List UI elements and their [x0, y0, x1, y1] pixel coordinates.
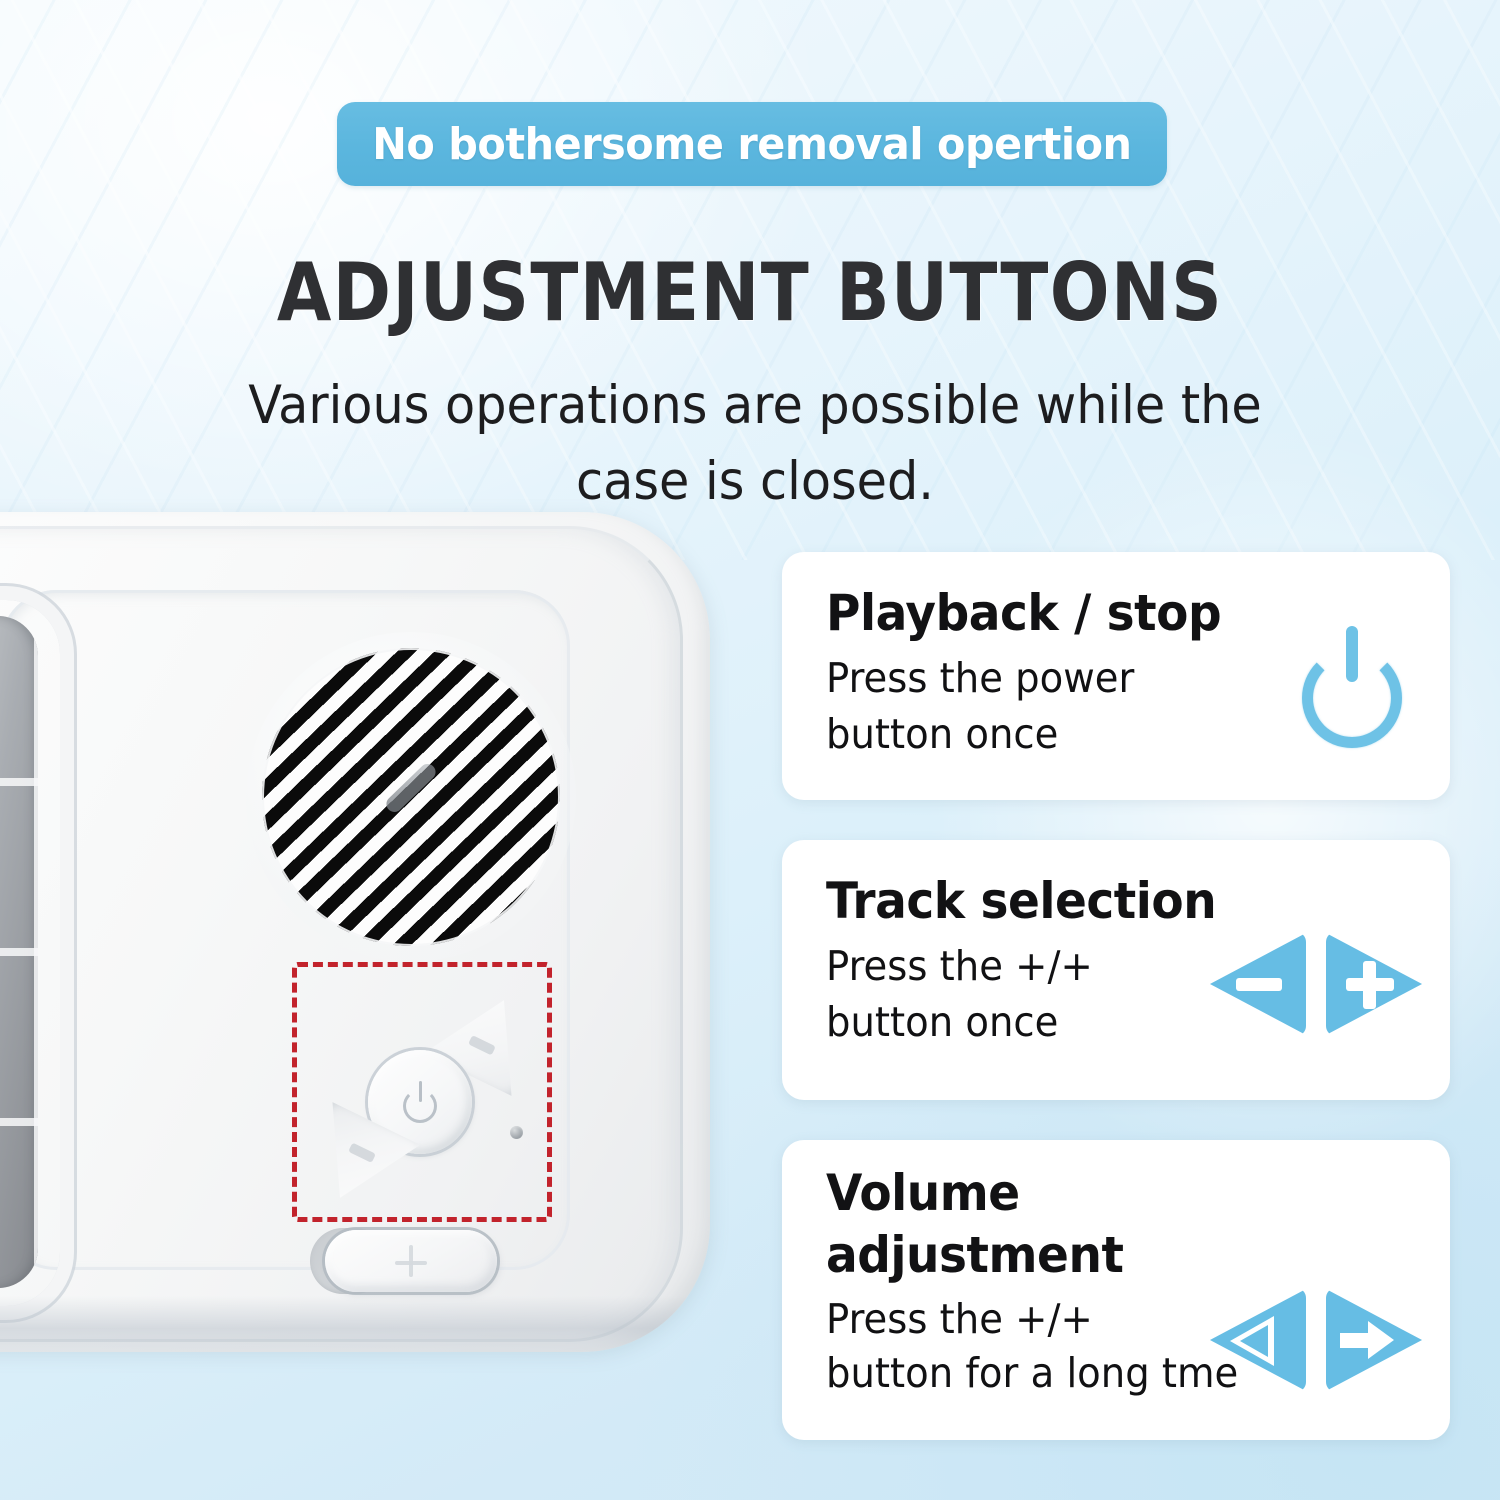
- forward-arrow-triangle-icon: [1326, 1288, 1424, 1392]
- volume-down-glyph: [348, 1143, 376, 1163]
- feature-card-track-selection-desc: Press the +/+ button once: [826, 938, 1216, 1050]
- infographic-page: No bothersome removal opertion ADJUSTMEN…: [0, 0, 1500, 1500]
- track-selection-icons: [1208, 932, 1424, 1036]
- feature-card-playback-title: Playback / stop: [826, 584, 1221, 642]
- feature-card-volume-adjustment-title: Volume adjustment: [826, 1162, 1238, 1286]
- volume-up-glyph: [468, 1035, 496, 1055]
- plus-triangle-icon: [1326, 932, 1424, 1036]
- latch-glyph-icon: [395, 1245, 427, 1277]
- page-subtitle: Various operations are possible while th…: [192, 368, 1317, 520]
- feature-card-playback-text: Playback / stop Press the power button o…: [826, 584, 1246, 762]
- feature-card-playback-desc: Press the power button once: [826, 650, 1221, 762]
- storage-compartment-grid: [0, 616, 38, 1288]
- power-icon: [400, 1081, 440, 1121]
- latch-button[interactable]: [325, 1230, 497, 1292]
- feature-card-track-selection-text: Track selection Press the +/+ button onc…: [826, 872, 1241, 1050]
- feature-card-playback: Playback / stop Press the power button o…: [782, 552, 1450, 800]
- power-icon: [1296, 626, 1408, 738]
- volume-adjustment-icons: [1208, 1288, 1424, 1392]
- led-indicator: [510, 1126, 523, 1139]
- page-title: ADJUSTMENT BUTTONS: [90, 246, 1410, 339]
- feature-card-track-selection: Track selection Press the +/+ button onc…: [782, 840, 1450, 1100]
- rewind-triangle-icon: [1208, 1288, 1306, 1392]
- feature-card-volume-adjustment: Volume adjustment Press the +/+ button f…: [782, 1140, 1450, 1440]
- feature-card-volume-adjustment-text: Volume adjustment Press the +/+ button f…: [826, 1162, 1265, 1400]
- minus-triangle-icon: [1208, 932, 1306, 1036]
- case-base-shadow: [0, 1296, 710, 1352]
- headline-banner: No bothersome removal opertion: [337, 102, 1167, 186]
- feature-card-volume-adjustment-desc: Press the +/+ button for a long tme: [826, 1292, 1238, 1400]
- banner-label: No bothersome removal opertion: [372, 119, 1131, 170]
- speaker-grille: [262, 648, 560, 946]
- feature-card-track-selection-title: Track selection: [826, 872, 1216, 930]
